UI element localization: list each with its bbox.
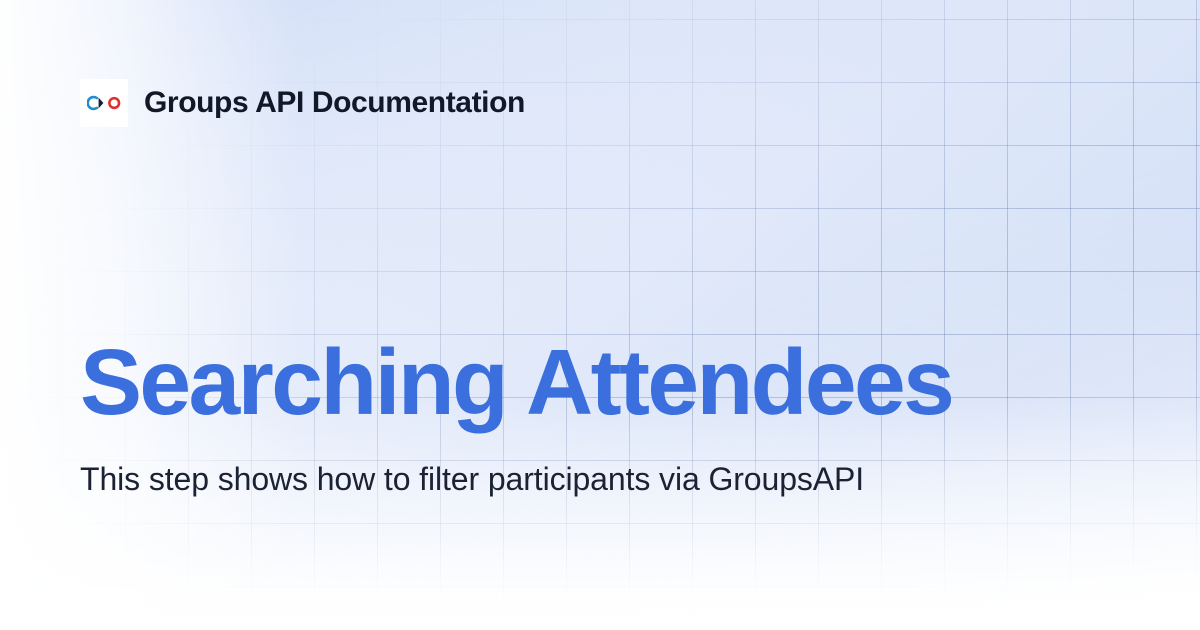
- brand-logo-box: [80, 79, 128, 127]
- hero-headline: Searching Attendees: [80, 336, 1090, 429]
- hero-subheadline: This step shows how to filter participan…: [80, 457, 870, 502]
- hero-text-block: Searching Attendees This step shows how …: [80, 336, 1090, 502]
- brand-header: Groups API Documentation: [80, 79, 525, 127]
- card-content: Groups API Documentation Searching Atten…: [0, 0, 1200, 630]
- c-arrow-o-logo-icon: [87, 95, 121, 111]
- brand-title: Groups API Documentation: [144, 88, 525, 118]
- og-card: Groups API Documentation Searching Atten…: [0, 0, 1200, 630]
